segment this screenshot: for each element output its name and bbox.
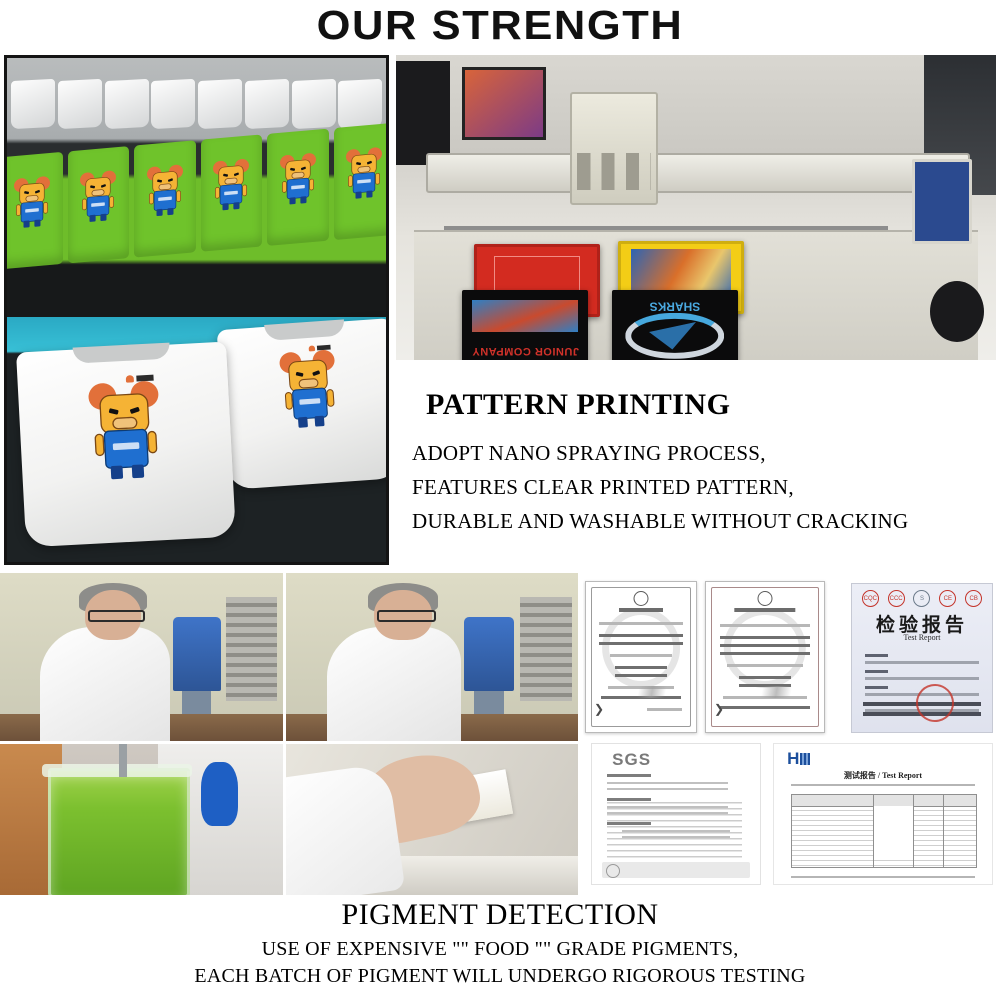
printed-garment-sharks: SHARKS [612,290,738,360]
blue-equipment-background [201,762,238,825]
stool [930,281,984,342]
platen-row [4,123,389,269]
junior-company-print-text: JUNIOR COMPANY [470,338,581,357]
certification-seals: CQC CCC S CE CB [862,591,982,606]
photo-screen-printing-carousel [4,55,389,565]
lab-equipment-rack [520,597,573,701]
lab-coat [40,627,170,741]
pattern-printing-heading: PATTERN PRINTING [404,388,996,422]
bull-mascot-print [80,169,117,223]
seal-ce-icon: CE [939,590,956,607]
conveyor-lower-deck [7,317,386,562]
bull-mascot-print [279,151,316,205]
bull-mascot-print [146,163,183,217]
photo-hand-holding-test-paper [286,744,578,895]
lab-coat [327,627,461,741]
platen [134,140,196,257]
platen [334,123,389,240]
h-lab-logo: H [787,749,810,769]
upper-shirt-row [7,80,386,128]
seal-ccc-icon: CCC [888,590,905,607]
pigment-detection-heading: PIGMENT DETECTION [0,898,1000,932]
certificate-seal-icon [758,591,773,606]
technician-glasses [88,610,146,622]
pattern-printing-section: PATTERN PRINTING ADOPT NANO SPRAYING PRO… [404,388,996,538]
page-title: OUR STRENGTH [0,0,1000,50]
pattern-printing-line-1: ADOPT NANO SPRAYING PROCESS, [404,436,996,470]
certificate-seal-icon [634,591,649,606]
photo-green-pigment-beaker [0,744,283,895]
sgs-footer-band [602,862,750,878]
operator-monitor [462,67,546,140]
inspection-test-report: CQC CCC S CE CB 检验报告 Test Report [851,583,993,733]
printed-garment-junior-company: JUNIOR COMPANY [462,290,588,360]
stirring-rod [119,744,127,777]
blue-lab-mixer [464,617,514,691]
pigment-detection-line-2: EACH BATCH OF PIGMENT WILL UNDERGO RIGOR… [0,963,1000,990]
red-official-stamp-icon [913,680,958,725]
platen [201,134,263,251]
beaker-of-green-pigment [48,768,190,895]
platen [267,129,329,246]
pattern-printing-line-3: DURABLE AND WASHABLE WITHOUT CRACKING [404,504,996,538]
sharks-print-text: SHARKS [622,300,728,314]
pigment-detection-section: PIGMENT DETECTION USE OF EXPENSIVE "" FO… [0,898,1000,990]
certificate-of-conformity: ❯ [705,581,825,733]
seal-src-icon: S [913,590,930,607]
platen [68,146,130,263]
certificate-of-approval: ❯ [585,581,697,733]
platen [4,152,63,269]
accreditation-mark-icon: ❯ [714,702,725,716]
technician-glasses [377,610,436,622]
bull-mascot-print [213,157,250,211]
printer-gantry [426,153,970,194]
blue-lab-mixer [173,617,221,691]
sgs-test-report: SGS [591,743,761,885]
sgs-logo: SGS [612,750,651,770]
photo-dtg-flatbed-printer: JUNIOR COMPANY SHARKS [396,55,996,360]
photo-lab-technician-2 [286,573,578,741]
seal-cqc-icon: CQC [862,590,879,607]
printed-tshirt [217,318,389,490]
h-report-title: 测试报告 / Test Report [774,770,992,781]
h-lab-test-report: H 测试报告 / Test Report [773,743,993,885]
dark-panel-left [396,61,450,165]
printer-control-screen[interactable] [912,159,972,244]
bull-mascot-print [13,174,50,228]
pigment-detection-line-1: USE OF EXPENSIVE "" FOOD "" GRADE PIGMEN… [0,936,1000,963]
sgs-results-table [607,802,741,858]
photo-lab-technician-1 [0,573,283,741]
bull-mascot-print [346,145,383,199]
lab-equipment-rack [226,597,277,701]
test-report-title-en: Test Report [852,633,992,642]
print-head-carriage [570,92,658,206]
h-report-results-table [791,794,976,868]
accreditation-mark-icon: ❯ [594,702,605,716]
pattern-printing-line-2: FEATURES CLEAR PRINTED PATTERN, [404,470,996,504]
certificates-and-reports-panel: ❯ ❯ CQC CCC S CE CB 检验报告 Test Report [583,573,1000,895]
printed-tshirt [16,342,236,548]
beaker-rim [42,764,192,778]
seal-cb-icon: CB [965,590,982,607]
